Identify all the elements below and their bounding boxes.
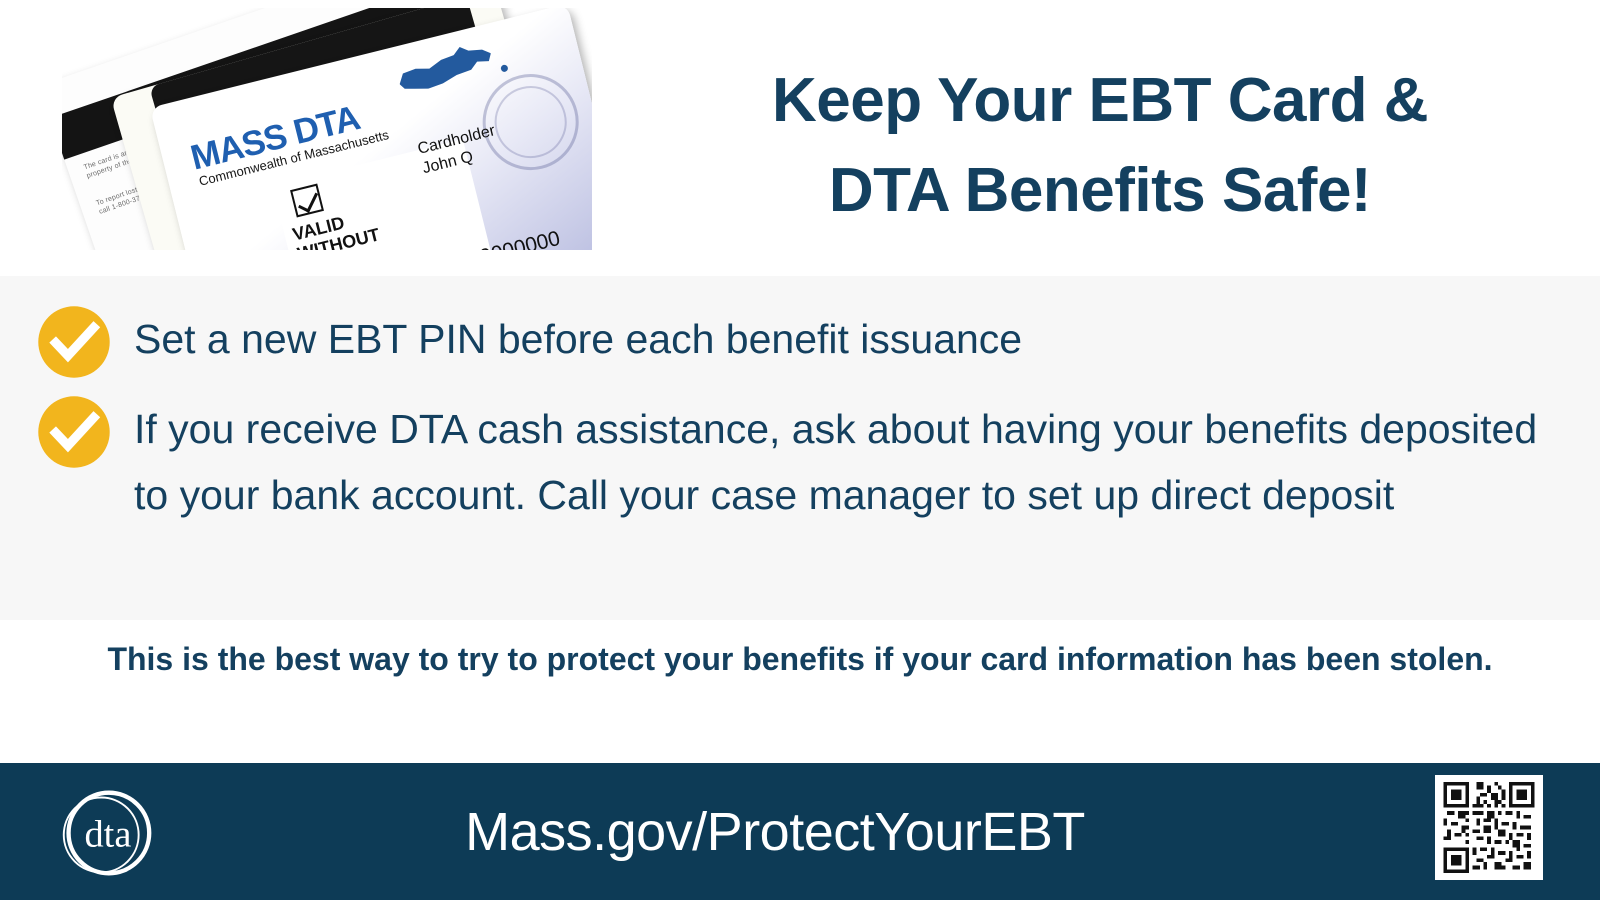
check-circle-icon (36, 304, 112, 380)
dta-logo-icon: dta (58, 785, 154, 881)
emphasis-line-2: has been stolen. (1242, 641, 1493, 677)
cardholder-block: Cardholder John Q (416, 121, 502, 179)
list-item: Set a new EBT PIN before each benefit is… (36, 304, 1566, 380)
emphasis-statement: This is the best way to try to protect y… (80, 632, 1520, 686)
list-item-label: If you receive DTA cash assistance, ask … (134, 394, 1566, 528)
svg-text:dta: dta (84, 813, 131, 855)
header-section: The card is an active means to access yo… (0, 0, 1600, 276)
massachusetts-map-icon (394, 40, 497, 102)
page-title-line-1: Keep Your EBT Card & (640, 56, 1560, 146)
poster: The card is an active means to access yo… (0, 0, 1600, 900)
website-url[interactable]: Mass.gov/ProtectYourEBT (200, 783, 1350, 881)
footer-bar: dta Mass.gov/ProtectYourEBT (0, 763, 1600, 900)
massachusetts-island-icon (500, 64, 508, 72)
check-circle-icon (36, 394, 112, 470)
list-item-label: Set a new EBT PIN before each benefit is… (134, 304, 1022, 372)
emphasis-line-1: This is the best way to try to protect y… (107, 641, 1232, 677)
qr-code[interactable] (1435, 775, 1543, 880)
checkbox-icon (290, 184, 324, 218)
page-title-line-2: DTA Benefits Safe! (640, 146, 1560, 236)
tips-panel: Set a new EBT PIN before each benefit is… (0, 276, 1600, 620)
page-title: Keep Your EBT Card & DTA Benefits Safe! (640, 56, 1560, 236)
list-item: If you receive DTA cash assistance, ask … (36, 394, 1566, 528)
ebt-card-photo: The card is an active means to access yo… (62, 8, 592, 250)
card-stack: The card is an active means to access yo… (62, 8, 592, 250)
